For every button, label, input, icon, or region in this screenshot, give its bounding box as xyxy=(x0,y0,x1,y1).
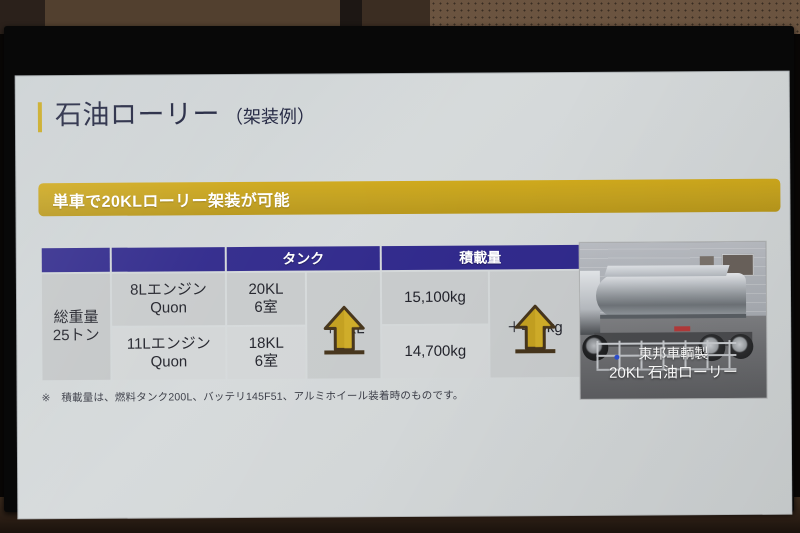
highlight-banner: 単車で20KLローリー架装が可能 xyxy=(38,179,780,217)
cell-engine-row2: 11Lエンジン Quon xyxy=(112,327,225,380)
tank-row1-line1: 20KL xyxy=(227,281,305,299)
table-row: 総重量 25トン 8Lエンジン Quon 20KL xyxy=(42,271,579,326)
engine-row2-line2: Quon xyxy=(112,353,225,371)
engine-row2-line1: 11Lエンジン xyxy=(112,335,225,353)
header-blank-2 xyxy=(112,247,225,272)
total-weight-line-1: 総重量 xyxy=(42,309,110,327)
cell-total-weight: 総重量 25トン xyxy=(42,274,111,380)
total-weight-line-2: 25トン xyxy=(42,327,110,345)
cell-engine-row1: 8Lエンジン Quon xyxy=(112,273,225,326)
up-arrow-icon xyxy=(513,303,557,357)
title-main-text: 石油ローリー xyxy=(55,101,220,129)
cell-tank-row2: 18KL 6室 xyxy=(227,327,305,379)
tank-row1-line2: 6室 xyxy=(227,299,305,317)
engine-row1-line2: Quon xyxy=(112,299,225,317)
table-header-row: タンク 積載量 xyxy=(42,245,579,272)
photo-reflector xyxy=(674,326,690,331)
tv-bezel: 石油ローリー （架装例） 単車で20KLローリー架装が可能 xyxy=(4,26,794,512)
cell-payload-row1: 15,100kg xyxy=(382,271,488,324)
up-arrow-icon xyxy=(322,304,366,358)
page-title: 石油ローリー （架装例） xyxy=(38,101,315,133)
highlight-banner-text: 単車で20KLローリー架装が可能 xyxy=(52,186,290,211)
cell-payload-delta: ＋400kg xyxy=(490,271,580,378)
header-tank: タンク xyxy=(227,246,380,271)
footnote: ※ 積載量は、燃料タンク200L、バッテリ145F51、アルミホイール装着時のも… xyxy=(42,388,464,406)
tank-row2-line1: 18KL xyxy=(227,335,305,353)
screen-surface: 石油ローリー （架装例） 単車で20KLローリー架装が可能 xyxy=(16,72,792,519)
title-sub-text: （架装例） xyxy=(225,108,315,127)
tanker-truck-photo: 東邦車輌製 20KL 石油ローリー xyxy=(580,242,767,399)
room-scene: 石油ローリー （架装例） 単車で20KLローリー架装が可能 xyxy=(0,0,800,533)
spec-table: タンク 積載量 総重量 25トン xyxy=(40,243,582,382)
photo-tank-body xyxy=(596,273,746,318)
photo-caption: 東邦車輌製 20KL 石油ローリー xyxy=(580,344,766,384)
cell-tank-delta: ＋2KL xyxy=(307,272,381,378)
title-accent-bar xyxy=(38,102,42,132)
header-payload: 積載量 xyxy=(382,245,579,270)
cell-tank-row1: 20KL 6室 xyxy=(227,273,305,325)
spec-table-container: タンク 積載量 総重量 25トン xyxy=(40,243,574,382)
photo-caption-line-2: 20KL 石油ローリー xyxy=(580,363,766,384)
engine-row1-line1: 8Lエンジン xyxy=(112,281,225,299)
photo-tank-walkway xyxy=(604,265,730,277)
tank-row2-line2: 6室 xyxy=(227,353,305,371)
cell-payload-row2: 14,700kg xyxy=(382,325,488,378)
presentation-slide: 石油ローリー （架装例） 単車で20KLローリー架装が可能 xyxy=(16,72,792,519)
header-blank-1 xyxy=(42,248,110,272)
tv-screen: 石油ローリー （架装例） 単車で20KLローリー架装が可能 xyxy=(16,72,792,519)
photo-caption-line-1: 東邦車輌製 xyxy=(638,345,708,361)
